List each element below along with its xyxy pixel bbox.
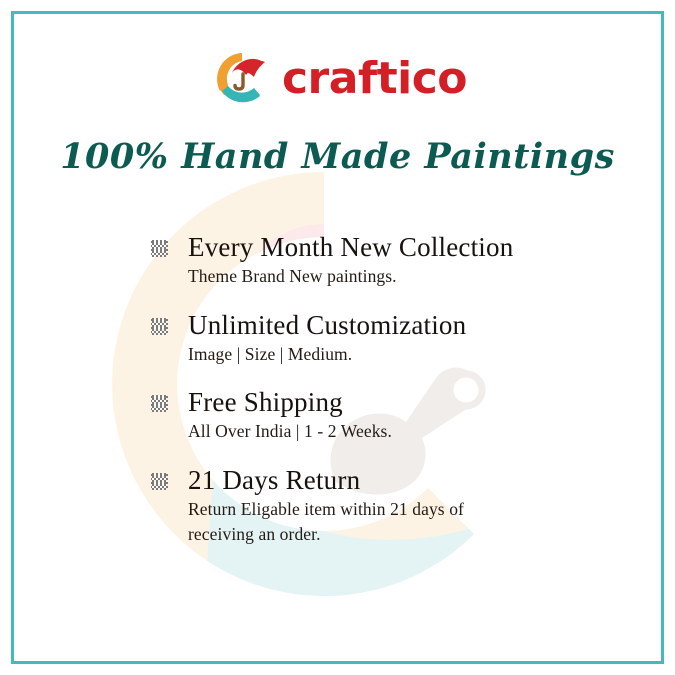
feature-subtitle: Image | Size | Medium. [188,342,518,367]
woven-square-bullet-icon [151,395,168,412]
list-item: Unlimited Customization Image | Size | M… [151,310,631,367]
list-item: Every Month New Collection Theme Brand N… [151,232,631,289]
woven-square-bullet-icon [151,318,168,335]
feature-subtitle: Theme Brand New paintings. [188,264,518,289]
feature-list: Every Month New Collection Theme Brand N… [151,232,631,547]
card-border-frame: craftico 100% Hand Made Paintings [11,11,664,664]
feature-title: Free Shipping [188,387,631,419]
brand-header: craftico [14,44,661,114]
feature-subtitle: Return Eligable item within 21 days of r… [188,497,518,547]
brand-wordmark: craftico [282,57,467,101]
feature-subtitle: All Over India | 1 - 2 Weeks. [188,419,518,444]
feature-title: 21 Days Return [188,465,631,497]
woven-square-bullet-icon [151,240,168,257]
list-item: 21 Days Return Return Eligable item with… [151,465,631,547]
list-item: Free Shipping All Over India | 1 - 2 Wee… [151,387,631,444]
feature-title: Unlimited Customization [188,310,631,342]
tagline: 100% Hand Made Paintings [14,138,661,177]
promo-card: craftico 100% Hand Made Paintings [0,0,675,675]
feature-title: Every Month New Collection [188,232,631,264]
woven-square-bullet-icon [151,473,168,490]
craftico-c-umbrella-icon [208,47,272,111]
